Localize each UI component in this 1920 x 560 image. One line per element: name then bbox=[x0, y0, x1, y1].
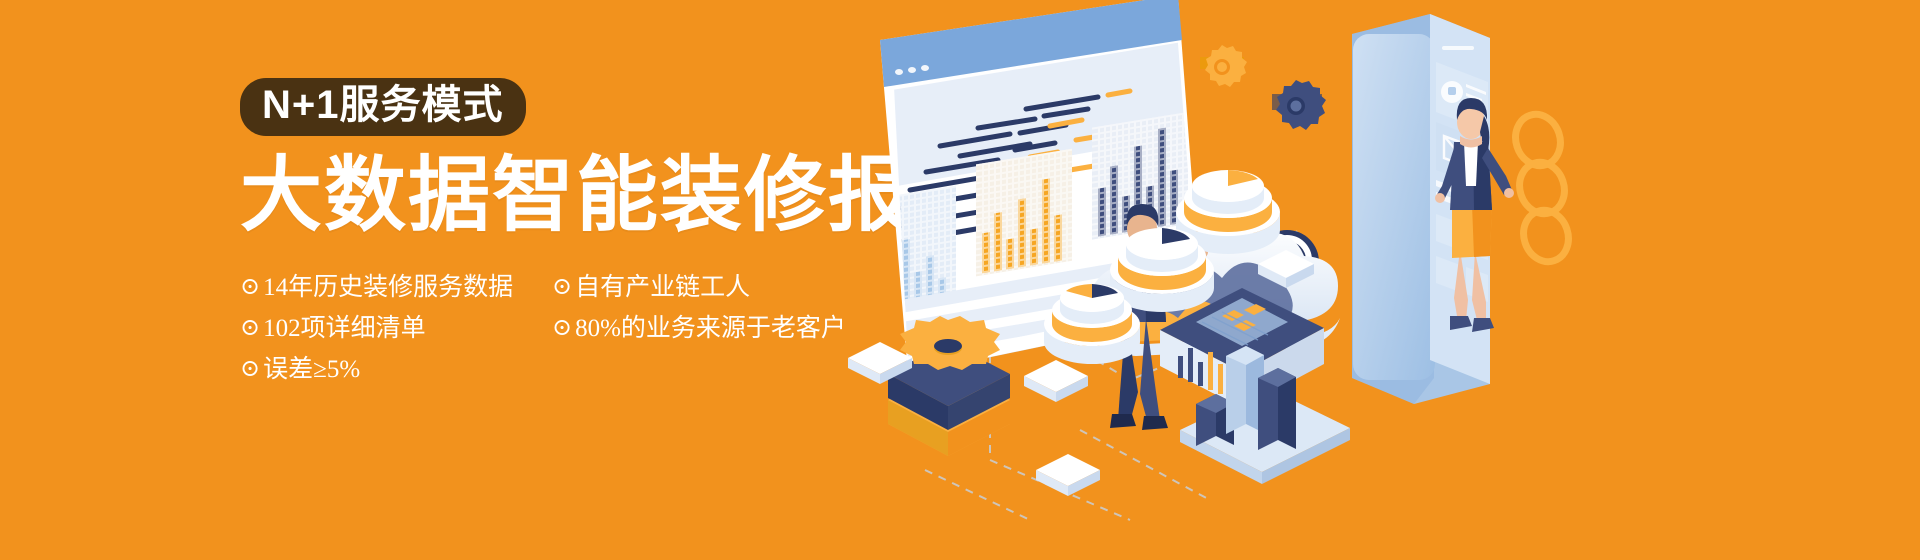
circled-dot-icon: ⊙ bbox=[240, 357, 260, 381]
circled-dot-icon: ⊙ bbox=[240, 316, 260, 340]
bar-3 bbox=[1258, 368, 1296, 450]
platform-gear-icon bbox=[900, 316, 1000, 370]
list-item-label: 80%的业务来源于老客户 bbox=[575, 316, 846, 341]
list-item: ⊙ 误差≥5% bbox=[240, 349, 552, 390]
circled-dot-icon: ⊙ bbox=[240, 275, 260, 299]
circled-dot-icon: ⊙ bbox=[552, 316, 572, 340]
service-mode-badge: N+1服务模式 bbox=[240, 78, 526, 136]
list-item-label: 14年历史装修服务数据 bbox=[263, 275, 513, 300]
list-item-label: 102项详细清单 bbox=[263, 316, 426, 341]
list-item: ⊙ 102项详细清单 bbox=[240, 308, 552, 349]
list-item-label: 自有产业链工人 bbox=[575, 275, 750, 300]
navy-gear-icon bbox=[1272, 80, 1326, 130]
floating-tile-mid bbox=[1024, 360, 1088, 402]
gear-platform bbox=[888, 316, 1010, 456]
pixel-bar-chart-orange bbox=[976, 149, 1072, 277]
ring-stack-icon bbox=[1509, 108, 1575, 267]
list-item-label: 误差≥5% bbox=[263, 357, 360, 382]
circled-dot-icon: ⊙ bbox=[552, 275, 572, 299]
list-item: ⊙ 14年历史装修服务数据 bbox=[240, 267, 552, 308]
promo-banner: N+1服务模式 大数据智能装修报价 ⊙ 14年历史装修服务数据 ⊙ 102项详细… bbox=[0, 0, 1920, 560]
isometric-big-data-illustration bbox=[830, 0, 1920, 560]
yellow-gear-icon bbox=[1200, 45, 1247, 87]
feature-list-column-left: ⊙ 14年历史装修服务数据 ⊙ 102项详细清单 ⊙ 误差≥5% bbox=[240, 267, 552, 390]
phone-speaker bbox=[1442, 46, 1474, 50]
floating-tile-right bbox=[1036, 454, 1100, 496]
